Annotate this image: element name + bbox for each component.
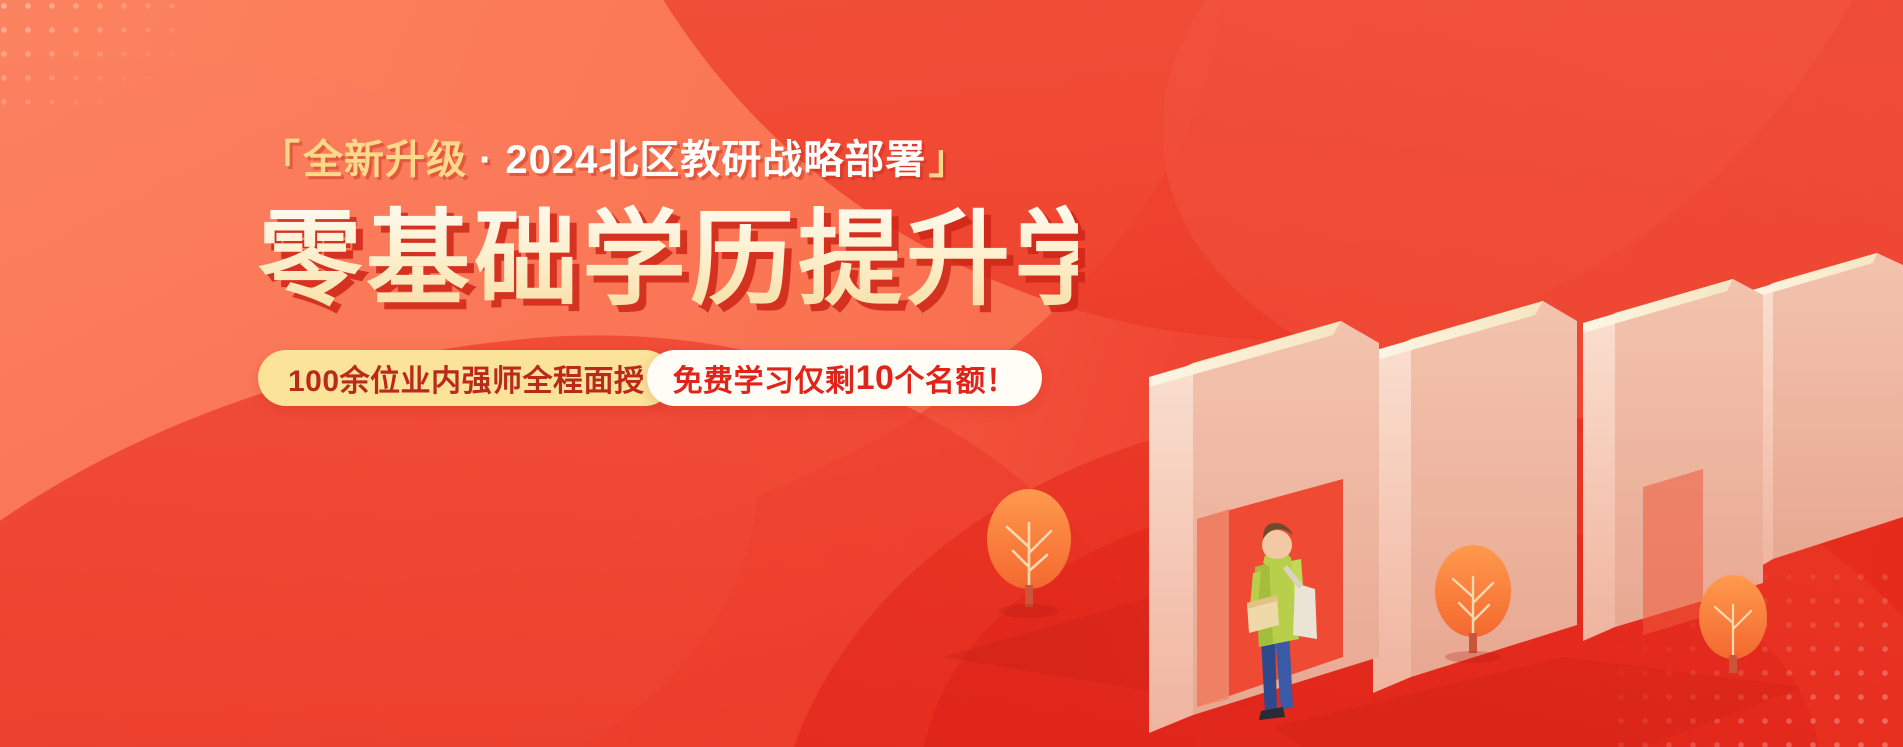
dot-grid-top-left <box>0 0 192 114</box>
tree-left <box>987 489 1071 618</box>
subtitle-gold-text: 全新升级 <box>303 138 467 182</box>
subtitle-close-bracket: 」 <box>928 138 969 182</box>
book-4 <box>1749 253 1903 573</box>
copy-block: 「全新升级·2024北区教研战略部署」 零基础学历提升学霸班 100余位业内强师… <box>258 140 1078 406</box>
headline: 零基础学历提升学霸班 <box>258 204 1078 316</box>
subtitle-white-text: 2024北区教研战略部署 <box>505 138 926 182</box>
pill-teachers: 100余位业内强师全程面授 <box>258 350 673 406</box>
pill-row: 100余位业内强师全程面授 免费学习仅剩10个名额！ <box>258 350 1078 406</box>
pill-quota: 免费学习仅剩10个名额！ <box>647 350 1043 406</box>
promo-banner: 「全新升级·2024北区教研战略部署」 零基础学历提升学霸班 100余位业内强师… <box>0 0 1903 747</box>
subtitle-open-bracket: 「 <box>260 138 301 182</box>
pill-quota-count: 10 <box>856 359 895 398</box>
pill-quota-prefix: 免费学习仅剩 <box>673 356 856 400</box>
tree-far-right <box>1699 575 1767 673</box>
pill-quota-suffix: 个名额！ <box>894 356 1016 400</box>
subtitle-separator: · <box>479 138 493 182</box>
pill-teachers-label: 100余位业内强师全程面授 <box>288 356 645 400</box>
subtitle: 「全新升级·2024北区教研战略部署」 <box>258 140 1078 180</box>
